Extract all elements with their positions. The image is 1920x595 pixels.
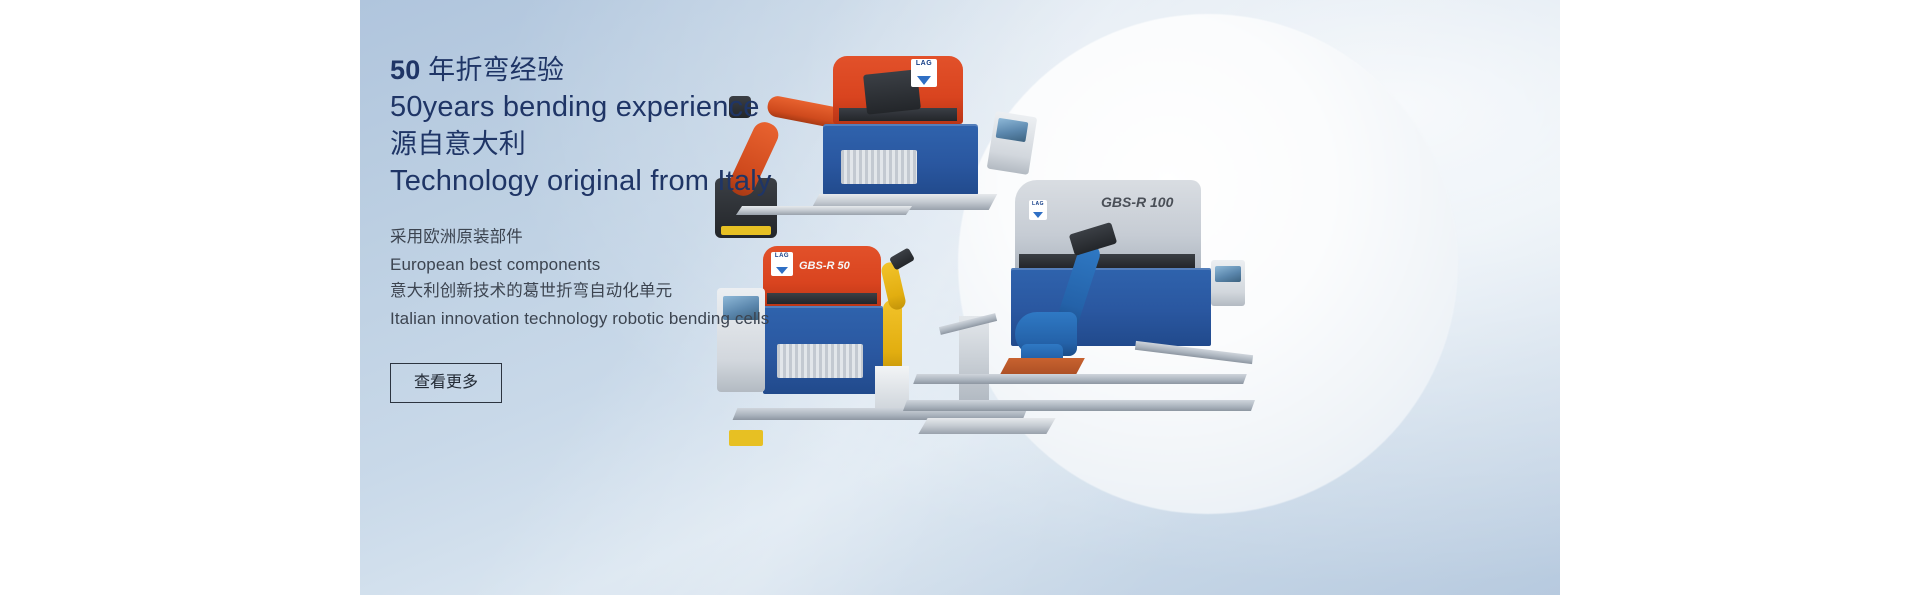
page-stage: LAG LAG GBS-R 50 (0, 0, 1920, 595)
lag-logo-right: LAG (1029, 200, 1047, 220)
headline-line-1-text: 年折弯经验 (420, 55, 564, 85)
headline-years-number: 50 (390, 55, 420, 85)
headline-line-3: 源自意大利 (390, 126, 1030, 163)
body-group: 采用欧洲原装部件 European best components 意大利创新技… (390, 224, 1030, 332)
view-more-button[interactable]: 查看更多 (390, 363, 502, 403)
body-line-3: 意大利创新技术的葛世折弯自动化单元 (390, 278, 1030, 305)
right-cell-stacked-blanks (918, 418, 1055, 434)
right-control-panel-screen (1215, 266, 1241, 282)
body-line-4: Italian innovation technology robotic be… (390, 305, 1030, 332)
body-line-1: 采用欧洲原装部件 (390, 224, 1030, 251)
right-press-model-label: GBS-R 100 (1101, 194, 1173, 210)
right-press-tool-rail (1019, 254, 1195, 268)
banner-copy: 50 年折弯经验 50years bending experience 源自意大… (390, 52, 1030, 403)
hero-banner: LAG LAG GBS-R 50 (360, 0, 1560, 595)
headline-line-1: 50 年折弯经验 (390, 52, 1030, 89)
left-cell-floor-stand (729, 430, 763, 446)
body-line-2: European best components (390, 251, 1030, 278)
headline-line-4: Technology original from Italy (390, 163, 1030, 200)
headline-line-2: 50years bending experience (390, 89, 1030, 126)
headline-group: 50 年折弯经验 50years bending experience 源自意大… (390, 52, 1030, 200)
